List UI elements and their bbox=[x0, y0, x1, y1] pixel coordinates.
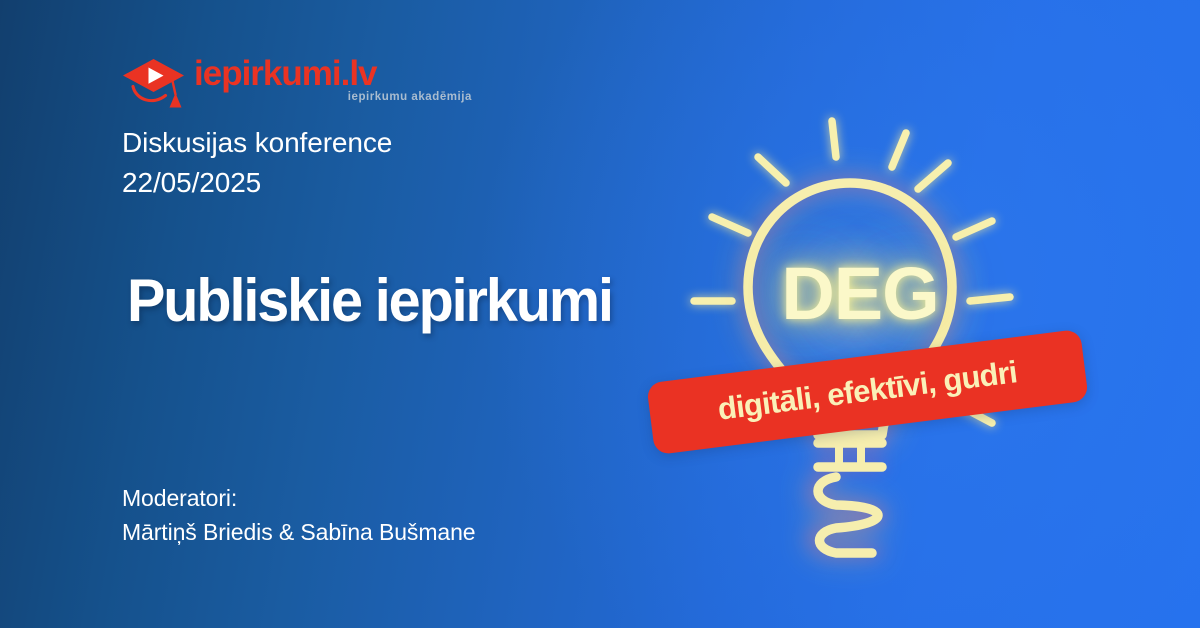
moderators-block: Moderatori: Mārtiņš Briedis & Sabīna Buš… bbox=[122, 481, 475, 549]
bulb-word-deg: DEG bbox=[770, 254, 950, 334]
graduation-cap-play-icon bbox=[122, 56, 186, 110]
brand-wordmark: iepirkumi.lv iepirkumu akadēmija bbox=[194, 54, 474, 104]
event-info: Diskusijas konference 22/05/2025 bbox=[122, 123, 392, 203]
brand-name: iepirkumi.lv bbox=[194, 54, 474, 94]
page-title: Publiskie iepirkumi bbox=[127, 268, 612, 334]
moderators-names: Mārtiņš Briedis & Sabīna Bušmane bbox=[122, 515, 475, 549]
event-type: Diskusijas konference bbox=[122, 123, 392, 163]
left-content-column: iepirkumi.lv iepirkumu akadēmija Diskusi… bbox=[122, 0, 762, 628]
conference-banner: iepirkumi.lv iepirkumu akadēmija Diskusi… bbox=[0, 0, 1200, 628]
moderators-label: Moderatori: bbox=[122, 481, 475, 515]
event-date: 22/05/2025 bbox=[122, 163, 392, 203]
brand-logo[interactable]: iepirkumi.lv iepirkumu akadēmija bbox=[122, 55, 482, 113]
